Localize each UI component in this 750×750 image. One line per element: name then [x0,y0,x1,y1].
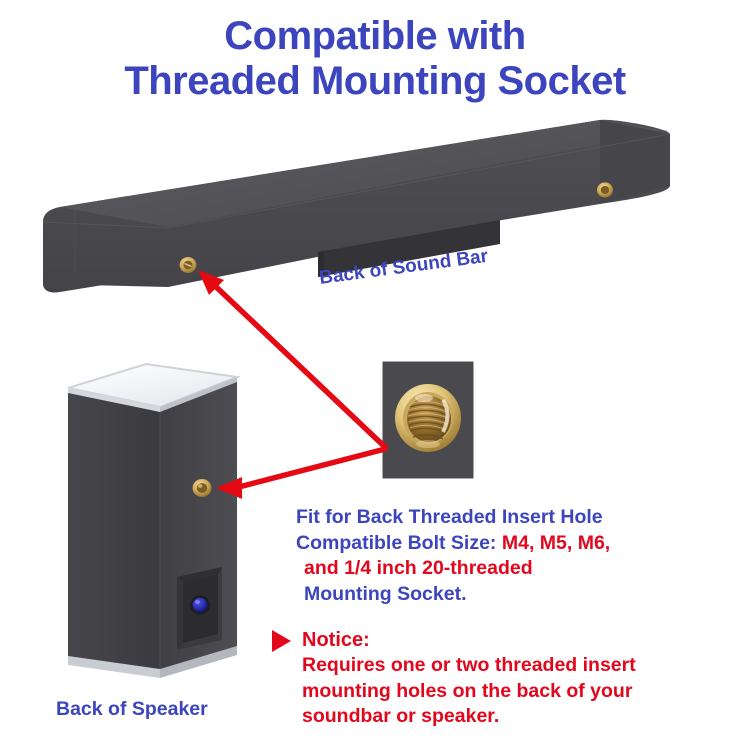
notice-line-2: mounting holes on the back of your [302,679,742,705]
speaker-3d [68,364,241,678]
soundbar-insert-hole-right [597,182,613,197]
spec-line-4: Mounting Socket. [296,582,736,608]
notice-body: Requires one or two threaded insert moun… [272,653,742,730]
notice-block: Notice: Requires one or two threaded ins… [272,627,742,730]
notice-heading-row: Notice: [272,627,742,653]
infographic-canvas: Compatible with Threaded Mounting Socket [0,0,750,750]
spec-line-2-blue: Compatible Bolt Size: [296,532,496,554]
notice-line-3: soundbar or speaker. [302,704,742,730]
caption-back-of-speaker: Back of Speaker [56,698,208,721]
spec-line-3: and 1/4 inch 20-threaded [296,556,736,582]
soundbar-insert-hole-left [180,257,197,273]
spec-line-2: Compatible Bolt Size: M4, M5, M6, [296,531,736,557]
notice-heading: Notice: [302,629,370,651]
speaker-rear-port-recess [177,567,222,650]
spec-text-block: Fit for Back Threaded Insert Hole Compat… [296,505,736,607]
arrow-to-speaker-hole [216,449,385,499]
notice-line-1: Requires one or two threaded insert [302,653,742,679]
spec-line-1: Fit for Back Threaded Insert Hole [296,505,736,531]
triangle-marker-icon [272,630,291,652]
speaker-port-led [193,598,208,612]
speaker-insert-hole [193,479,212,497]
spec-line-2-red: M4, M5, M6, [496,532,610,554]
threaded-insert-closeup [383,362,473,478]
